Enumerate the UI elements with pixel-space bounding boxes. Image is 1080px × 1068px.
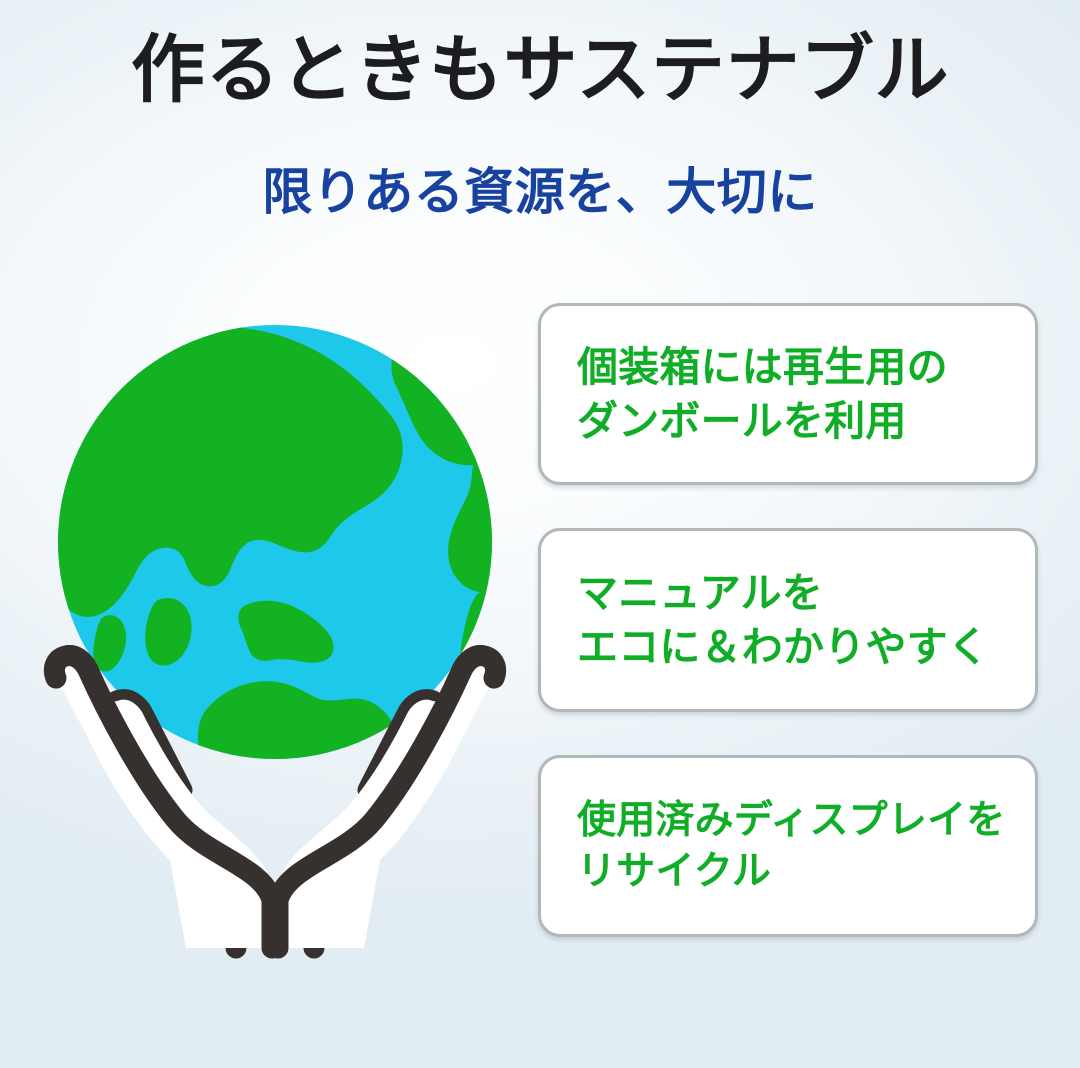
page-subtitle: 限りある資源を、大切に: [0, 165, 1080, 220]
feature-card-packaging[interactable]: 個装箱には再生用の ダンボールを利用: [538, 303, 1038, 485]
feature-card-list: 個装箱には再生用の ダンボールを利用 マニュアルを エコに＆わかりやすく 使用済…: [538, 303, 1038, 937]
hands-holding-earth-illustration: [10, 300, 540, 960]
card-line: マニュアルを: [577, 566, 999, 620]
subtitle-block: 限りある資源を、大切に: [0, 165, 1080, 220]
page-title: 作るときもサステナブル: [0, 30, 1080, 110]
card-line: ダンボールを利用: [577, 394, 999, 448]
title-block: 作るときもサステナブル: [0, 30, 1080, 110]
card-line: リサイクル: [577, 846, 999, 897]
feature-card-recycle[interactable]: 使用済みディスプレイを リサイクル: [538, 755, 1038, 937]
feature-card-manual[interactable]: マニュアルを エコに＆わかりやすく: [538, 528, 1038, 712]
card-line: 使用済みディスプレイを: [577, 795, 999, 846]
card-line: エコに＆わかりやすく: [577, 620, 999, 674]
card-line: 個装箱には再生用の: [577, 340, 999, 394]
sustainability-poster: 作るときもサステナブル 限りある資源を、大切に: [0, 0, 1080, 1068]
